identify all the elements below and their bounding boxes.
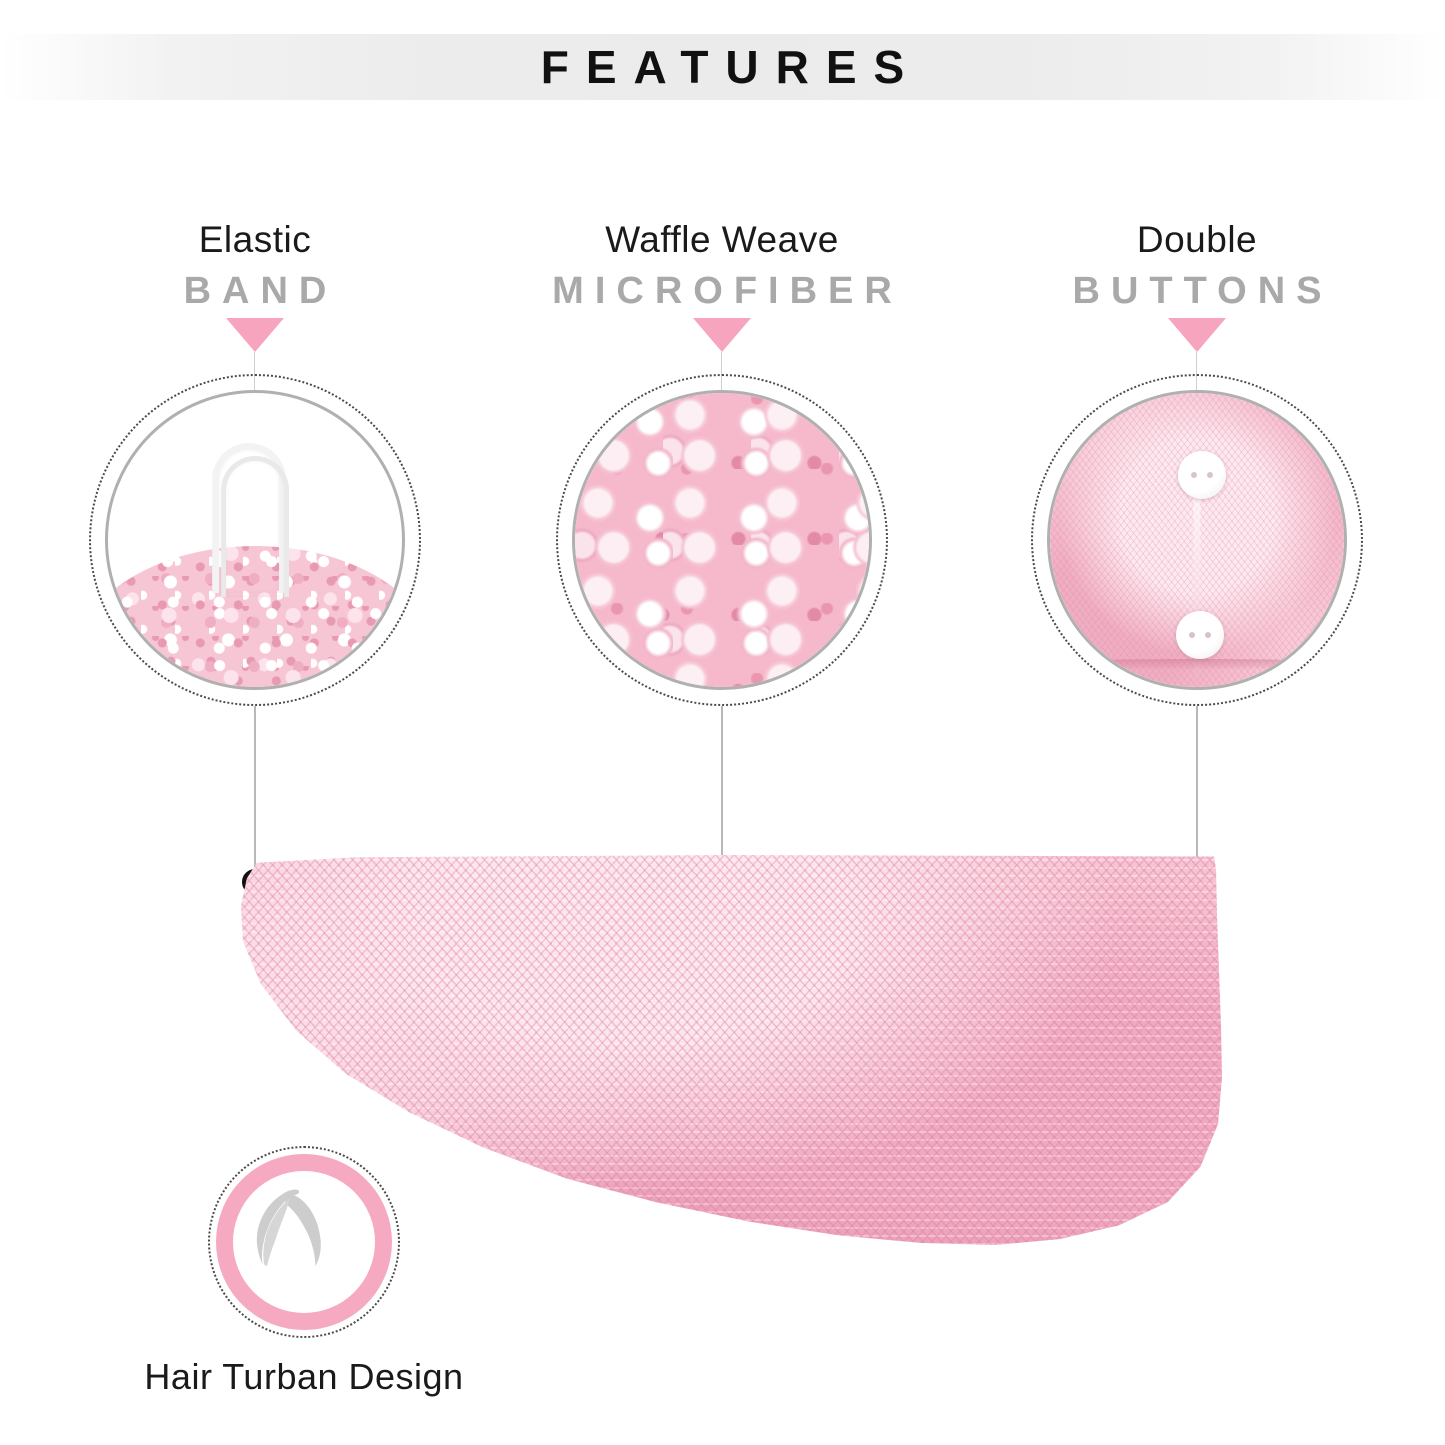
button-hole-left <box>1189 632 1195 638</box>
button-hole-right <box>1205 632 1211 638</box>
feature-label-line2: BUTTONS <box>967 266 1427 316</box>
feature-label-line1: Waffle Weave <box>492 218 952 262</box>
pink-triangle-pointer-icon <box>1168 318 1226 352</box>
feature-label-elastic-band: Elastic BAND <box>25 218 485 316</box>
elastic-strand-inner <box>221 456 289 597</box>
hair-turban-icon <box>216 1154 358 1296</box>
feature-label-microfiber: Waffle Weave MICROFIBER <box>492 218 952 316</box>
pink-triangle-pointer-icon <box>693 318 751 352</box>
button-hole-right <box>1207 472 1213 478</box>
feature-label-double-buttons: Double BUTTONS <box>967 218 1427 316</box>
detail-circle-waffle-weave <box>572 390 872 690</box>
double-buttons-closeup-image <box>1050 393 1344 687</box>
page-title: FEATURES <box>0 34 1445 100</box>
button-top-icon <box>1178 451 1226 499</box>
detail-circle-elastic-band <box>105 390 405 690</box>
towel-fabric-body <box>237 855 1222 1245</box>
badge-caption: Hair Turban Design <box>54 1356 554 1398</box>
hair-turban-badge <box>216 1154 392 1330</box>
feature-label-line1: Double <box>967 218 1427 262</box>
feature-label-line2: BAND <box>25 266 485 316</box>
pink-triangle-pointer-icon <box>226 318 284 352</box>
hem-seam <box>1047 659 1347 669</box>
waffle-weave-closeup-image <box>575 393 869 687</box>
feature-label-line2: MICROFIBER <box>492 266 952 316</box>
feature-infographic: FEATURES Elastic BAND Waffle Weave MICRO… <box>0 0 1445 1445</box>
detail-circle-double-buttons <box>1047 390 1347 690</box>
button-hole-left <box>1191 472 1197 478</box>
feature-label-line1: Elastic <box>25 218 485 262</box>
elastic-loop-icon <box>212 443 286 593</box>
button-bottom-icon <box>1176 611 1224 659</box>
product-image-hair-turban-towel <box>237 855 1222 1245</box>
elastic-band-closeup-image <box>108 393 402 687</box>
